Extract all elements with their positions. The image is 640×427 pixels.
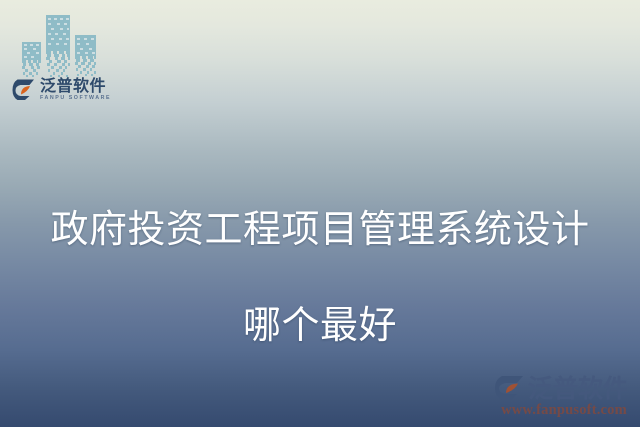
page-title-line1: 政府投资工程项目管理系统设计 xyxy=(0,206,640,254)
brand-name-cn: 泛普软件 xyxy=(40,78,111,94)
watermark-brand-row: 泛普软件 xyxy=(494,375,634,401)
pixel-cityscape-graphic xyxy=(20,10,102,82)
brand-name-en: FANPU SOFTWARE xyxy=(40,96,111,101)
watermark: 泛普软件 www.fanpusoft.com xyxy=(494,375,634,419)
fanpu-swoosh-logo-icon xyxy=(12,78,35,101)
fanpu-swoosh-logo-icon xyxy=(494,375,524,401)
watermark-brand-name: 泛普软件 xyxy=(528,376,628,401)
promo-banner: 泛普软件 FANPU SOFTWARE 政府投资工程项目管理系统设计 哪个最好 … xyxy=(0,0,640,427)
page-title-line2: 哪个最好 xyxy=(0,302,640,350)
page-title: 政府投资工程项目管理系统设计 哪个最好 xyxy=(0,158,640,398)
brand-logo[interactable]: 泛普软件 FANPU SOFTWARE xyxy=(12,78,111,101)
brand-wordmark: 泛普软件 FANPU SOFTWARE xyxy=(40,78,111,101)
watermark-url: www.fanpusoft.com xyxy=(494,402,634,419)
